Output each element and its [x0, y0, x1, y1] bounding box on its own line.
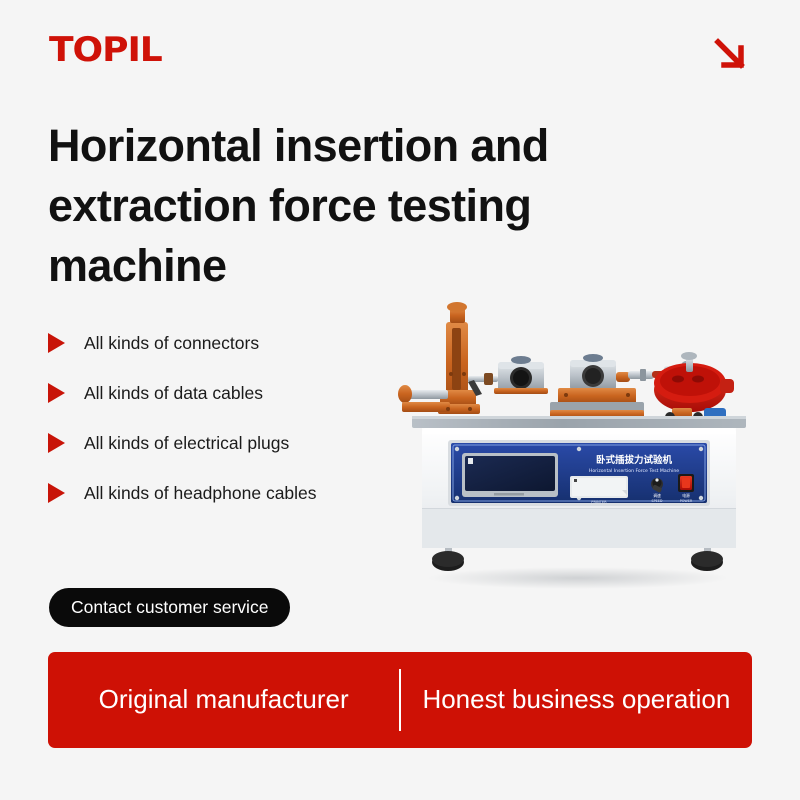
test-fixture-assembly — [398, 302, 734, 422]
feature-list: All kinds of connectors All kinds of dat… — [48, 318, 408, 518]
clamp-block-b — [550, 354, 644, 418]
panel-title-cn: 卧式插拔力试验机 — [596, 454, 673, 466]
list-item: All kinds of electrical plugs — [48, 418, 408, 468]
triangle-right-icon — [48, 383, 65, 403]
panel-title-en: Horizontal Insertion Force Test Machine — [589, 468, 679, 474]
list-item: All kinds of headphone cables — [48, 468, 408, 518]
speed-label-en: SPEED — [651, 499, 662, 503]
banner-honest-business: Honest business operation — [401, 683, 752, 716]
list-item: All kinds of connectors — [48, 318, 408, 368]
left-column-fixture — [398, 302, 480, 414]
brand-logo[interactable]: TOPIL — [49, 30, 162, 70]
photo-shadow — [428, 567, 728, 589]
banner-original-manufacturer: Original manufacturer — [48, 683, 399, 716]
feature-label: All kinds of headphone cables — [84, 483, 317, 504]
page-header: TOPIL — [0, 0, 800, 95]
hmi-touchscreen — [462, 453, 558, 497]
list-item: All kinds of data cables — [48, 368, 408, 418]
contact-customer-service-button[interactable]: Contact customer service — [49, 588, 290, 627]
clamp-block-a — [494, 356, 548, 394]
speed-label-cn: 调速 — [653, 493, 661, 498]
triangle-right-icon — [48, 333, 65, 353]
triangle-right-icon — [48, 483, 65, 503]
feature-label: All kinds of data cables — [84, 383, 263, 404]
triangle-right-icon — [48, 433, 65, 453]
product-image: 卧式插拔力试验机 Horizontal Insertion Force Test… — [398, 262, 758, 592]
power-label-cn: 电源 — [682, 493, 690, 498]
printer-label: PRINTER — [591, 500, 607, 504]
control-panel: 卧式插拔力试验机 Horizontal Insertion Force Test… — [448, 440, 710, 506]
power-label-en: POWER — [680, 499, 693, 503]
rotary-dial — [654, 352, 734, 422]
feature-label: All kinds of electrical plugs — [84, 433, 289, 454]
trust-banner: Original manufacturer Honest business op… — [48, 652, 752, 748]
machine-deck — [412, 416, 746, 428]
power-switch: 电源 POWER — [678, 474, 694, 503]
feature-label: All kinds of connectors — [84, 333, 259, 354]
arrow-down-right-icon[interactable] — [714, 38, 748, 72]
